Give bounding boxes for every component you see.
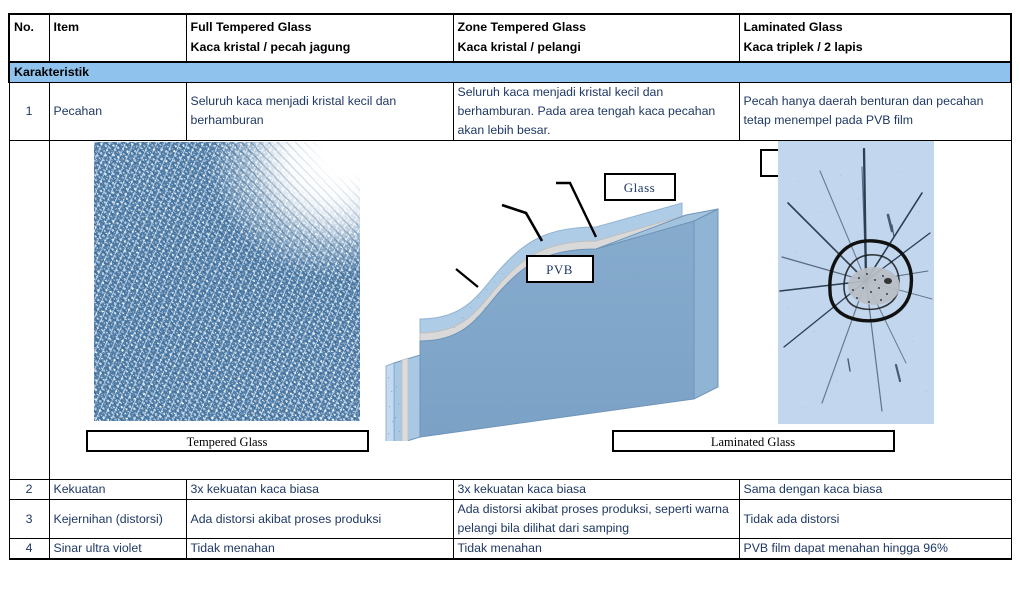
row2-zone-tempered: 3x kekuatan kaca biasa: [453, 480, 739, 500]
table-row-kekuatan: 2 Kekuatan 3x kekuatan kaca biasa 3x kek…: [9, 480, 1011, 500]
diagram-label-glass-top: Glass: [604, 173, 676, 201]
row3-item: Kejernihan (distorsi): [49, 500, 186, 539]
impact-dark-chip: [884, 278, 892, 284]
table-row-sinar-uv: 4 Sinar ultra violet Tidak menahan Tidak…: [9, 539, 1011, 560]
header-laminated-title: Laminated Glass: [744, 18, 1007, 38]
row1-item: Pecahan: [49, 82, 186, 140]
row2-laminated: Sama dengan kaca biasa: [739, 480, 1011, 500]
slab-left-glass-edge-back: [386, 363, 394, 441]
figure-row-spacer-no: [9, 141, 49, 480]
header-full-title: Full Tempered Glass: [191, 18, 449, 38]
tempered-glass-shatter-photo: [94, 142, 360, 421]
row4-no: 4: [9, 539, 49, 560]
row4-laminated: PVB film dapat menahan hingga 96%: [739, 539, 1011, 560]
impact-crushed-core: [848, 267, 900, 305]
figure-row: Tempered Glass: [9, 141, 1011, 480]
row4-zone-tempered: Tidak menahan: [453, 539, 739, 560]
glass-comparison-table: No. Item Full Tempered Glass Kaca krista…: [8, 13, 1012, 560]
header-cell-item: Item: [49, 14, 186, 62]
row3-zone-tempered: Ada distorsi akibat proses produksi, sep…: [453, 500, 739, 539]
header-full-subtitle: Kaca kristal / pecah jagung: [191, 38, 449, 58]
row1-no: 1: [9, 82, 49, 140]
row3-laminated: Tidak ada distorsi: [739, 500, 1011, 539]
header-cell-laminated: Laminated Glass Kaca triplek / 2 lapis: [739, 14, 1011, 62]
header-laminated-subtitle: Kaca triplek / 2 lapis: [744, 38, 1007, 58]
slab-right-depth-face: [694, 209, 718, 399]
header-cell-zone-tempered: Zone Tempered Glass Kaca kristal / pelan…: [453, 14, 739, 62]
header-cell-no: No.: [9, 14, 49, 62]
figure-row-merged-cell: Tempered Glass: [49, 141, 1011, 480]
laminated-glass-cross-section-diagram: PVB Glass Glass: [350, 141, 780, 441]
table-row-pecahan: 1 Pecahan Seluruh kaca menjadi kristal k…: [9, 82, 1011, 140]
leader-line-pvb: [456, 269, 478, 287]
row4-item: Sinar ultra violet: [49, 539, 186, 560]
leader-line-glass-top: [502, 205, 542, 241]
document-page: No. Item Full Tempered Glass Kaca krista…: [0, 0, 1020, 600]
row3-no: 3: [9, 500, 49, 539]
table-header-row: No. Item Full Tempered Glass Kaca krista…: [9, 14, 1011, 62]
header-zone-subtitle: Kaca kristal / pelangi: [458, 38, 735, 58]
header-no-title: No.: [14, 18, 45, 38]
row2-full-tempered: 3x kekuatan kaca biasa: [186, 480, 453, 500]
tempered-glass-caption: Tempered Glass: [86, 430, 369, 452]
diagram-label-pvb: PVB: [526, 255, 594, 283]
row1-laminated: Pecah hanya daerah benturan dan pecahan …: [739, 82, 1011, 140]
table-row-kejernihan: 3 Kejernihan (distorsi) Ada distorsi aki…: [9, 500, 1011, 539]
header-cell-full-tempered: Full Tempered Glass Kaca kristal / pecah…: [186, 14, 453, 62]
row1-zone-tempered: Seluruh kaca menjadi kristal kecil dan b…: [453, 82, 739, 140]
laminated-glass-caption: Laminated Glass: [612, 430, 895, 452]
slab-left-pvb-edge: [402, 358, 408, 441]
header-item-title: Item: [54, 18, 182, 38]
row3-full-tempered: Ada distorsi akibat proses produksi: [186, 500, 453, 539]
header-zone-title: Zone Tempered Glass: [458, 18, 735, 38]
figure-area: Tempered Glass: [54, 141, 1007, 479]
row4-full-tempered: Tidak menahan: [186, 539, 453, 560]
row1-full-tempered: Seluruh kaca menjadi kristal kecil dan b…: [186, 82, 453, 140]
section-band-karakteristik: Karakteristik: [9, 62, 1011, 83]
row2-no: 2: [9, 480, 49, 500]
row2-item: Kekuatan: [49, 480, 186, 500]
laminated-glass-impact-photo: [778, 141, 934, 424]
section-band-row: Karakteristik: [9, 62, 1011, 83]
